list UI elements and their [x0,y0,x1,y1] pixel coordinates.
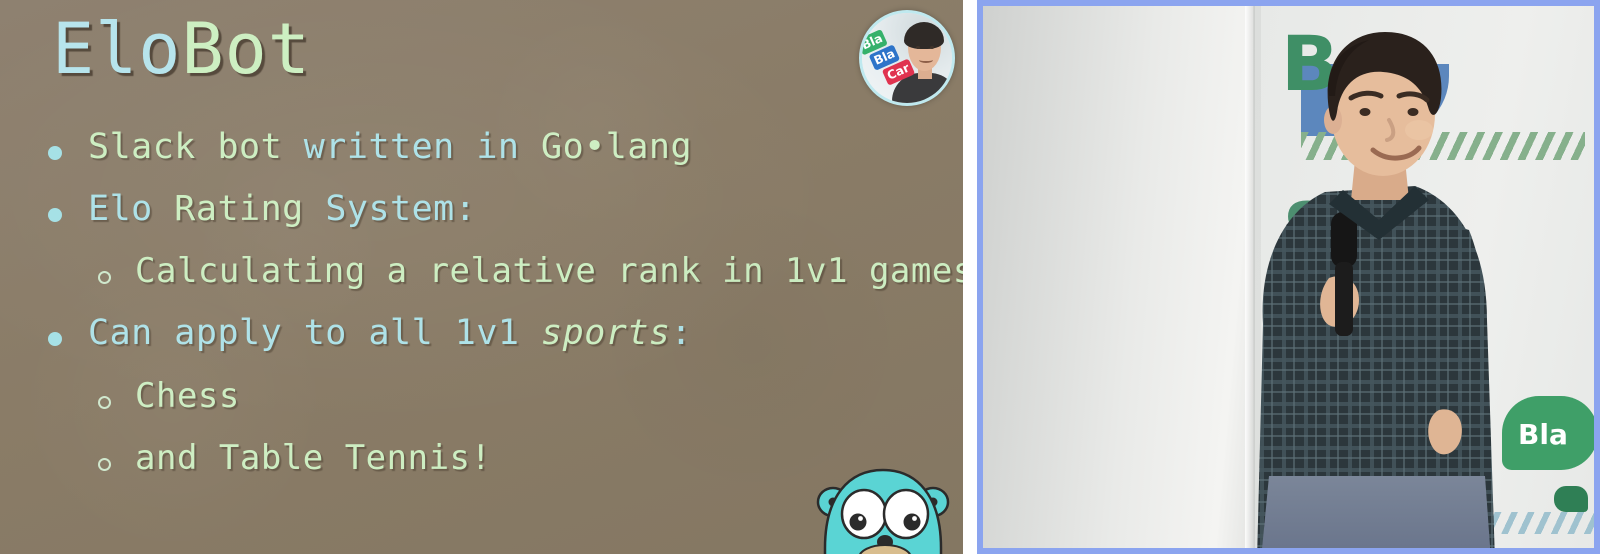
avatar: Bla Bla Car [859,10,955,106]
list-item-label: Slack bot written in Go•lang [88,128,692,167]
list-item-label: Calculating a relative rank in 1v1 games [135,252,963,290]
presentation-slide-panel: EloBot Slack bot written in Go•lang Elo … [0,0,963,554]
avatar-smile [919,57,933,63]
list-item-label: and Table Tennis! [135,439,492,477]
bullet-circle-icon [98,396,111,409]
list-item: Calculating a relative rank in 1v1 games [48,252,928,290]
list-item: Chess [48,377,928,415]
go-gopher-icon [809,456,957,554]
avatar-eye-right [930,46,934,49]
list-item: Slack bot written in Go•lang [48,128,928,167]
room-pillar [983,6,1253,548]
slide-bullet-list: Slack bot written in Go•lang Elo Rating … [48,128,928,501]
list-item: Can apply to all 1v1 sports: [48,314,928,353]
page-title-part-two: Bot [181,8,310,90]
list-item-label: Can apply to all 1v1 sports: [88,314,692,353]
bullet-circle-icon [98,458,111,471]
video-frame: B S L Bla [983,6,1594,548]
bullet-circle-icon [98,271,111,284]
page-title-part-one: Elo [52,8,181,90]
avatar-eye-left [916,46,920,49]
bullet-disc-icon [48,332,62,346]
page-title: EloBot [52,14,311,84]
bullet-disc-icon [48,146,62,160]
presenter-figure [1233,24,1563,548]
list-item-label: Chess [135,377,240,415]
list-item: Elo Rating System: [48,190,928,229]
screen-root: EloBot Slack bot written in Go•lang Elo … [0,0,1600,554]
slide-background: EloBot Slack bot written in Go•lang Elo … [0,0,963,554]
list-item-label: Elo Rating System: [88,190,476,229]
list-item: and Table Tennis! [48,439,928,477]
presenter-video-panel: B S L Bla [977,0,1600,554]
bullet-disc-icon [48,208,62,222]
